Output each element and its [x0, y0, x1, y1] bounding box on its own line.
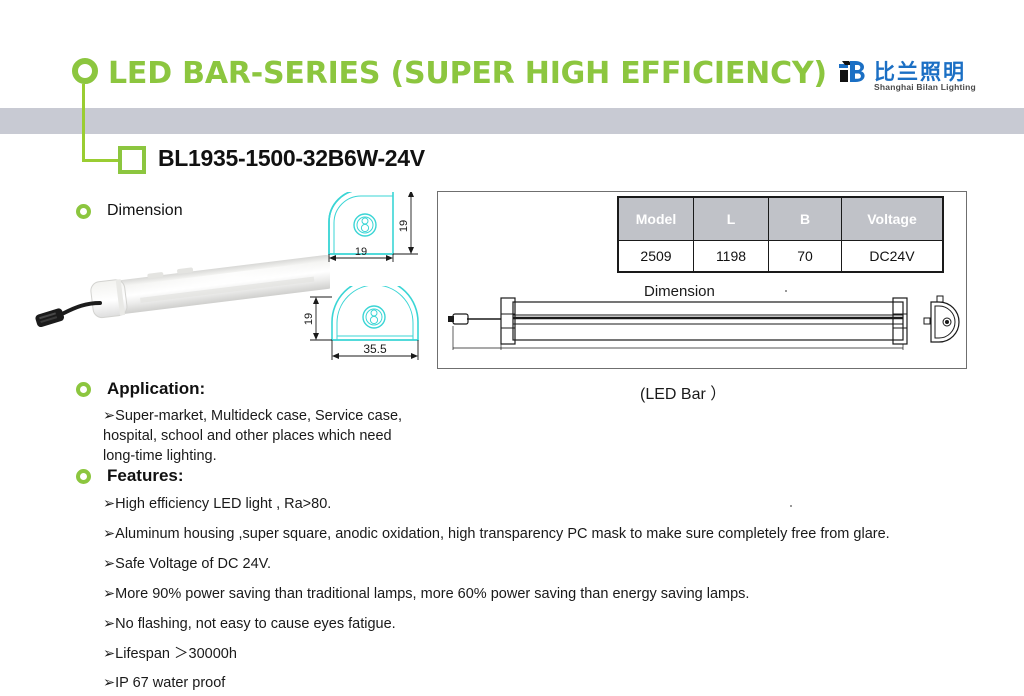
feature-item-text: No flashing, not easy to cause eyes fati…: [115, 616, 396, 632]
dimension-heading-label: Dimension: [107, 202, 183, 220]
feature-item: ➢Lifespan ＞30000h: [103, 644, 237, 664]
spec-cell-model: 2509: [618, 241, 694, 273]
quarter-round-profile-drawing: 19 19: [305, 192, 445, 262]
feature-item-text: Safe Voltage of DC 24V.: [115, 556, 271, 572]
arrow-bullet-icon: ➢: [103, 616, 115, 632]
application-item: ➢Super-market, Multideck case, Service c…: [103, 406, 403, 466]
spec-header-model: Model: [618, 197, 694, 241]
spec-table: Model L B Voltage 2509 1198 70 DC24V: [617, 196, 944, 273]
features-heading-label: Features:: [107, 466, 184, 486]
spec-header-b: B: [769, 197, 842, 241]
arrow-bullet-icon: ➢: [103, 408, 115, 424]
arrow-bullet-icon: ➢: [103, 496, 115, 512]
dome-profile-height-label: 19: [303, 313, 315, 325]
connector-line-horizontal: [82, 159, 120, 162]
decorative-dot: [785, 290, 787, 292]
dome-profile-drawing: 19 35.5: [300, 286, 450, 364]
spec-header-voltage: Voltage: [842, 197, 944, 241]
decorative-dot: [790, 505, 792, 507]
ring-bullet-icon: [76, 469, 91, 484]
arrow-bullet-icon: ➢: [103, 675, 115, 691]
title-ring-bullet-icon: [72, 58, 98, 84]
feature-item: ➢More 90% power saving than traditional …: [103, 584, 749, 604]
spec-header-l: L: [694, 197, 769, 241]
feature-item: ➢Aluminum housing ,super square, anodic …: [103, 524, 890, 544]
feature-item: ➢High efficiency LED light , Ra>80.: [103, 494, 331, 514]
dimension-section-heading: Dimension: [76, 202, 183, 220]
feature-item-text: More 90% power saving than traditional l…: [115, 586, 749, 602]
page-title: LED BAR-SERIES (SUPER HIGH EFFICIENCY): [108, 56, 827, 91]
company-logo: 比兰照明 Shanghai Bilan Lighting: [838, 58, 968, 98]
header-gray-band: [0, 108, 1024, 134]
product-photo: [30, 243, 330, 348]
slide-page: LED BAR-SERIES (SUPER HIGH EFFICIENCY) B…: [0, 0, 1024, 696]
feature-item: ➢No flashing, not easy to cause eyes fat…: [103, 614, 396, 634]
arrow-bullet-icon: ➢: [103, 586, 115, 602]
dome-profile-width-label: 35.5: [363, 342, 387, 356]
spec-table-header-row: Model L B Voltage: [618, 197, 943, 241]
feature-item-text: IP 67 water proof: [115, 675, 225, 691]
bilan-b-logo-icon: [838, 60, 870, 84]
feature-item-text: High efficiency LED light , Ra>80.: [115, 496, 331, 512]
arrow-bullet-icon: ➢: [103, 526, 115, 542]
application-heading-label: Application:: [107, 379, 205, 399]
product-code-square-icon: [118, 146, 146, 174]
quarter-profile-height-label: 19: [398, 220, 410, 232]
spec-cell-b: 70: [769, 241, 842, 273]
spec-cell-l: 1198: [694, 241, 769, 273]
feature-item: ➢IP 67 water proof: [103, 673, 225, 693]
spec-cell-voltage: DC24V: [842, 241, 944, 273]
ring-bullet-icon: [76, 382, 91, 397]
quarter-profile-width-label: 19: [355, 246, 367, 258]
led-bar-figure-label: (LED Bar ）: [640, 380, 726, 404]
technical-drawing-caption: Dimension: [644, 283, 715, 300]
features-section-heading: Features:: [76, 466, 184, 486]
table-row: 2509 1198 70 DC24V: [618, 241, 943, 273]
connector-line-vertical: [82, 84, 85, 162]
ring-bullet-icon: [76, 204, 91, 219]
application-section-heading: Application:: [76, 379, 205, 399]
logo-english-name: Shanghai Bilan Lighting: [874, 82, 976, 92]
product-code: BL1935-1500-32B6W-24V: [158, 145, 425, 172]
feature-item-text: Lifespan ＞30000h: [115, 646, 237, 662]
feature-item: ➢Safe Voltage of DC 24V.: [103, 554, 271, 574]
application-item-text: Super-market, Multideck case, Service ca…: [103, 408, 402, 464]
feature-item-text: Aluminum housing ,super square, anodic o…: [115, 526, 890, 542]
arrow-bullet-icon: ➢: [103, 646, 115, 662]
arrow-bullet-icon: ➢: [103, 556, 115, 572]
